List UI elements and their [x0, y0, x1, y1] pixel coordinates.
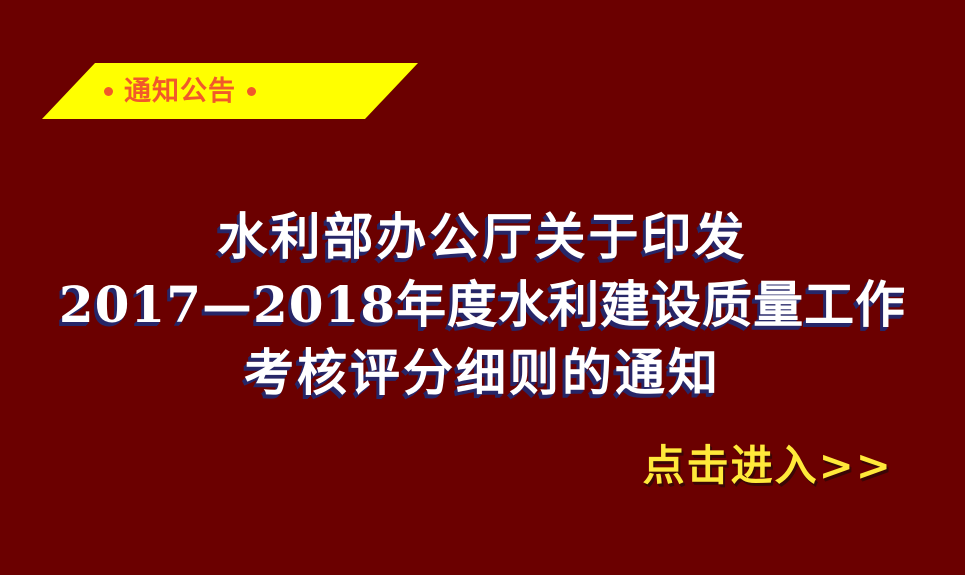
bullet-dot-left-icon	[104, 87, 113, 96]
headline-line-3: 考核评分细则的通知	[0, 348, 965, 398]
enter-link-button[interactable]: 点击进入>>	[643, 432, 893, 493]
ribbon-label-group: 通知公告	[42, 63, 418, 119]
ribbon-label-text: 通知公告	[124, 78, 236, 105]
headline-line-2: 2017—2018年度水利建设质量工作	[0, 280, 965, 330]
bullet-dot-right-icon	[247, 87, 256, 96]
headline-title: 水利部办公厅关于印发 2017—2018年度水利建设质量工作 考核评分细则的通知	[0, 212, 965, 398]
category-ribbon[interactable]: 通知公告	[42, 63, 418, 119]
announcement-banner-page: 通知公告 水利部办公厅关于印发 2017—2018年度水利建设质量工作 考核评分…	[0, 0, 965, 575]
headline-line-1: 水利部办公厅关于印发	[0, 212, 965, 262]
